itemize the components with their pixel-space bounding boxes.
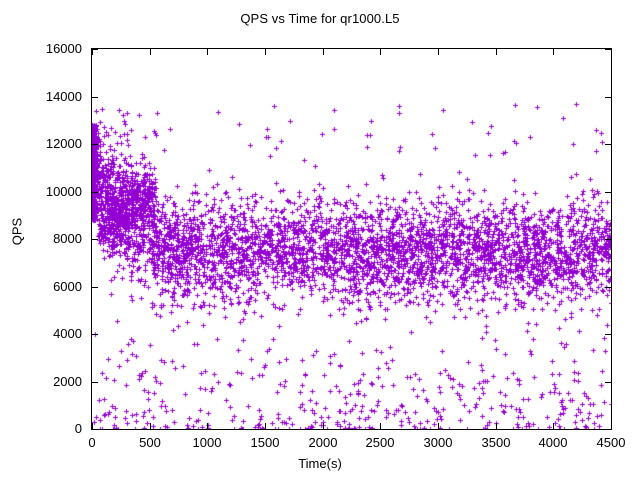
x-tick-mark [611,423,612,429]
y-tick-label: 4000 [4,326,82,341]
y-tick-label: 2000 [4,374,82,389]
y-tick-mark-right [605,382,611,383]
y-tick-mark [92,382,98,383]
x-tick-mark [92,423,93,429]
plot-frame [91,48,612,430]
y-tick-mark [92,334,98,335]
x-tick-mark-top [380,49,381,55]
x-tick-mark [380,423,381,429]
y-tick-label: 12000 [4,136,82,151]
x-tick-mark [553,423,554,429]
scatter-points-canvas [92,49,611,429]
y-tick-mark-right [605,192,611,193]
x-tick-label: 4500 [571,435,640,450]
x-tick-mark-top [611,49,612,55]
y-tick-mark [92,429,98,430]
y-tick-mark [92,287,98,288]
x-axis-title: Time(s) [0,456,640,471]
y-tick-mark-right [605,239,611,240]
y-tick-label: 0 [4,421,82,436]
x-tick-mark-top [553,49,554,55]
y-tick-mark-right [605,429,611,430]
y-tick-mark-right [605,287,611,288]
y-tick-label: 8000 [4,231,82,246]
y-tick-mark-right [605,97,611,98]
y-tick-label: 6000 [4,279,82,294]
x-tick-mark-top [92,49,93,55]
y-tick-mark [92,239,98,240]
y-tick-label: 16000 [4,41,82,56]
x-tick-mark-top [438,49,439,55]
x-tick-mark [496,423,497,429]
chart-title: QPS vs Time for qr1000.L5 [0,11,640,26]
x-tick-mark-top [150,49,151,55]
y-tick-mark [92,97,98,98]
x-tick-mark-top [265,49,266,55]
y-tick-mark [92,144,98,145]
x-tick-mark [150,423,151,429]
x-tick-mark [323,423,324,429]
y-tick-mark [92,192,98,193]
x-tick-mark [207,423,208,429]
x-tick-mark [265,423,266,429]
x-tick-mark [438,423,439,429]
x-tick-mark-top [323,49,324,55]
x-tick-mark-top [207,49,208,55]
y-tick-mark-right [605,144,611,145]
y-tick-mark-right [605,334,611,335]
x-tick-mark-top [496,49,497,55]
y-tick-label: 10000 [4,184,82,199]
y-tick-label: 14000 [4,89,82,104]
chart-plot-area: QPS vs Time for qr1000.L5 pg180o2nofp.cx… [0,0,640,480]
